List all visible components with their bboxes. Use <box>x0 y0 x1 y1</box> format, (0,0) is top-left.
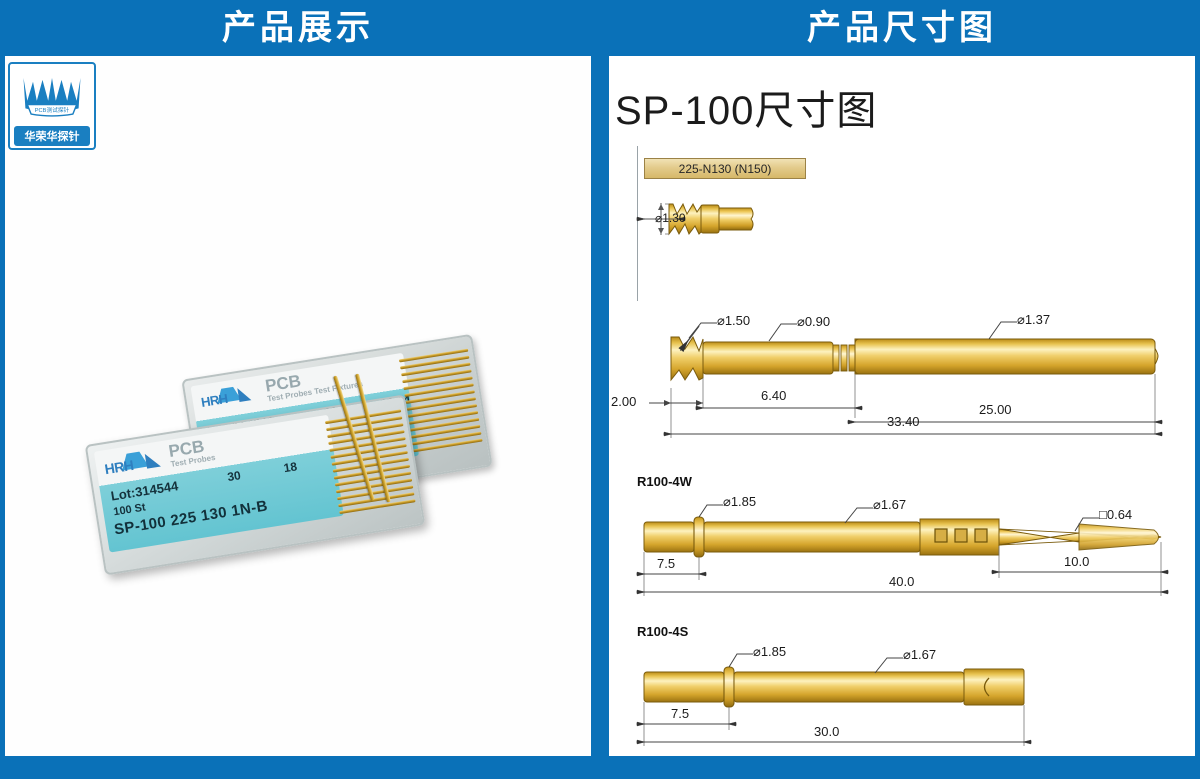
page-root: 产品展示 产品尺寸图 HRH P <box>0 0 1200 779</box>
dim-4w-tail-length: 10.0 <box>1064 554 1089 569</box>
product-photo-panel: HRH PCB Test Probes Test Fixtures Lot:31… <box>5 56 591 756</box>
svg-text:HRH: HRH <box>103 457 134 477</box>
drawing-artwork <box>609 56 1195 756</box>
label-date-front: 18 <box>283 459 298 475</box>
logo-inner-text: PCB测试探针 <box>35 106 70 114</box>
bottom-bar <box>0 756 1200 779</box>
product-label-front: HRH PCB Test Probes Lot:314544 100 St 30… <box>94 415 344 553</box>
label-header-front: HRH PCB Test Probes <box>94 415 333 486</box>
dim-main-tip-diameter: ⌀1.50 <box>717 313 750 329</box>
page-title-right: 产品尺寸图 <box>807 11 997 45</box>
hrh-logo-icon: HRH <box>199 381 260 412</box>
company-logo: PCB测试探针 华荣华探针 <box>8 62 96 150</box>
dim-4w-flange-diameter: ⌀1.85 <box>723 494 756 510</box>
dim-4w-body-diameter: ⌀1.67 <box>873 497 906 513</box>
svg-text:HRH: HRH <box>200 391 229 410</box>
panel-divider <box>596 40 604 779</box>
dim-main-body-length: 25.00 <box>979 402 1012 417</box>
product-photo: HRH PCB Test Probes Test Fixtures Lot:31… <box>5 56 591 756</box>
dimension-drawing: SP-100尺寸图 225-N130 (N150) <box>609 56 1195 756</box>
dim-4w-tail-size: □0.64 <box>1099 507 1132 522</box>
dim-main-tip-length: 2.00 <box>611 394 636 409</box>
dim-tip-diameter: ⌀1.30 <box>655 211 686 225</box>
section-label-r100-4s: R100-4S <box>637 624 688 639</box>
product-box-front: HRH PCB Test Probes Lot:314544 100 St 30… <box>85 394 426 575</box>
dim-main-neck-diameter: ⌀0.90 <box>797 314 830 330</box>
dimension-drawing-panel: SP-100尺寸图 225-N130 (N150) <box>609 56 1195 756</box>
dim-main-total-length: 33.40 <box>887 414 920 429</box>
header-right: 产品尺寸图 <box>604 0 1200 56</box>
section-label-r100-4w: R100-4W <box>637 474 692 489</box>
dim-4s-flange-diameter: ⌀1.85 <box>753 644 786 660</box>
page-title-left: 产品展示 <box>222 11 374 45</box>
header-left: 产品展示 <box>0 0 596 56</box>
dim-4s-front-length: 7.5 <box>671 706 689 721</box>
dim-4s-body-diameter: ⌀1.67 <box>903 647 936 663</box>
dim-4w-total-length: 40.0 <box>889 574 914 589</box>
logo-brand-text: 华荣华探针 <box>14 126 90 146</box>
hrh-logo-icon: HRH <box>103 446 168 479</box>
dim-4s-total-length: 30.0 <box>814 724 839 739</box>
dim-4w-front-length: 7.5 <box>657 556 675 571</box>
dim-main-front-length: 6.40 <box>761 388 786 403</box>
label-count-front: 30 <box>226 468 241 484</box>
dim-main-body-diameter: ⌀1.37 <box>1017 312 1050 328</box>
crown-probe-logo-icon: PCB测试探针 <box>14 68 90 124</box>
